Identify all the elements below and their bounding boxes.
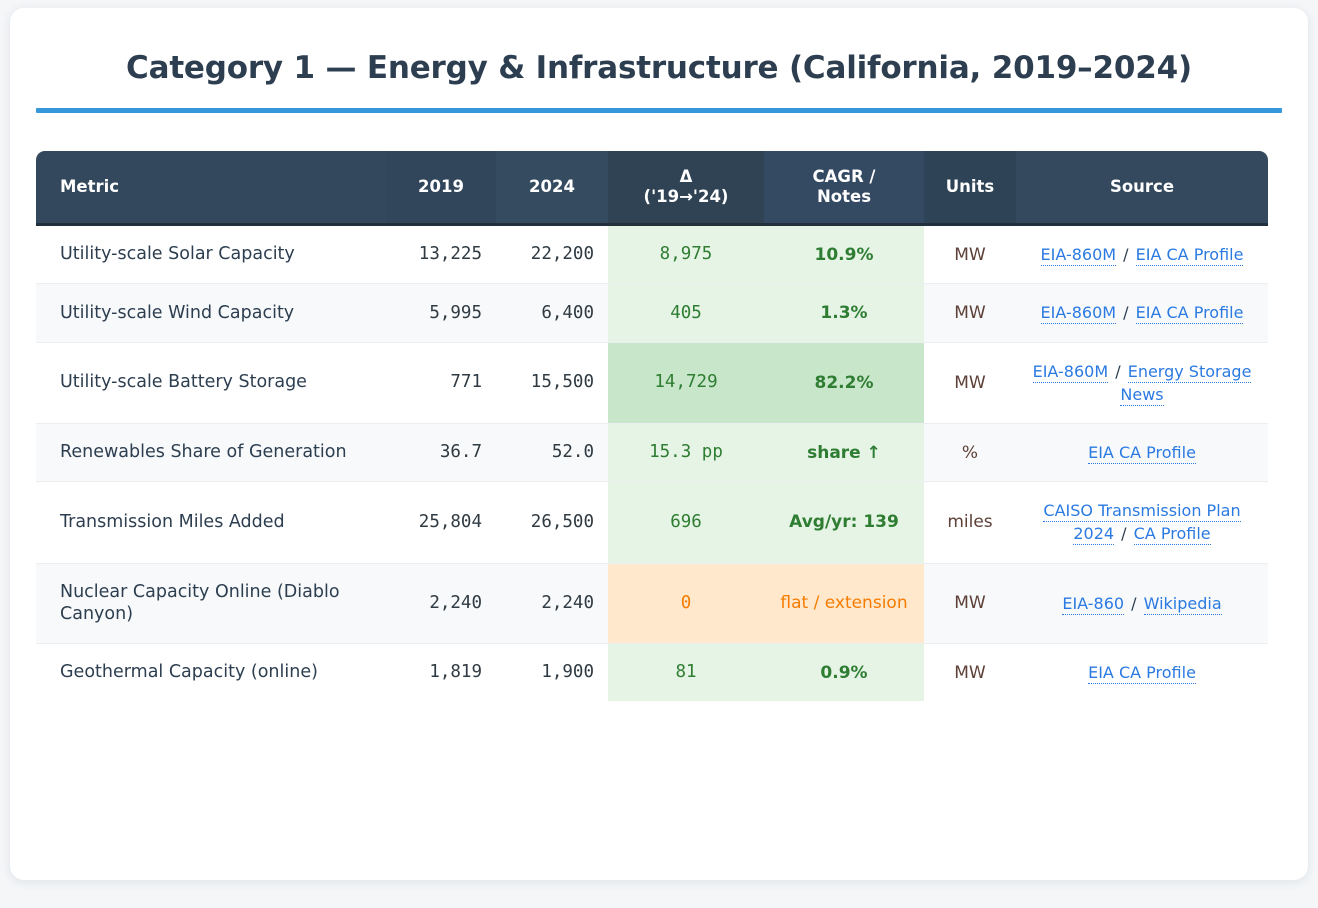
- cell-value-2024: 1,900: [496, 644, 608, 701]
- cell-metric: Nuclear Capacity Online (Diablo Canyon): [36, 564, 386, 645]
- cell-units: miles: [924, 482, 1016, 563]
- table-row: Utility-scale Solar Capacity13,22522,200…: [36, 226, 1268, 284]
- cell-metric: Geothermal Capacity (online): [36, 644, 386, 701]
- cell-cagr-notes: 1.3%: [764, 284, 924, 342]
- column-header-metric[interactable]: Metric: [36, 151, 386, 226]
- column-header-delta[interactable]: Δ ('19→'24): [608, 151, 764, 226]
- cell-value-2019: 1,819: [386, 644, 496, 701]
- column-header-cagr[interactable]: CAGR / Notes: [764, 151, 924, 226]
- cell-units: MW: [924, 564, 1016, 645]
- cell-units: MW: [924, 644, 1016, 701]
- cell-value-2019: 2,240: [386, 564, 496, 645]
- cell-metric: Transmission Miles Added: [36, 482, 386, 563]
- cell-value-2024: 52.0: [496, 424, 608, 482]
- cell-cagr-notes: 82.2%: [764, 343, 924, 424]
- cell-value-2019: 36.7: [386, 424, 496, 482]
- cell-value-2024: 15,500: [496, 343, 608, 424]
- table-row: Utility-scale Battery Storage77115,50014…: [36, 343, 1268, 424]
- cell-metric: Utility-scale Battery Storage: [36, 343, 386, 424]
- report-card: Category 1 — Energy & Infrastructure (Ca…: [10, 8, 1308, 880]
- cell-units: MW: [924, 284, 1016, 342]
- table-row: Renewables Share of Generation36.752.015…: [36, 424, 1268, 482]
- cell-source: EIA CA Profile: [1016, 424, 1268, 482]
- source-link[interactable]: EIA-860M: [1041, 303, 1117, 324]
- table-row: Transmission Miles Added25,80426,500696A…: [36, 482, 1268, 563]
- column-header-delta-line2: ('19→'24): [618, 187, 754, 207]
- cell-value-2019: 5,995: [386, 284, 496, 342]
- source-link[interactable]: EIA CA Profile: [1088, 443, 1196, 464]
- cell-metric: Renewables Share of Generation: [36, 424, 386, 482]
- cell-value-2024: 22,200: [496, 226, 608, 284]
- cell-cagr-notes: 10.9%: [764, 226, 924, 284]
- table-body: Utility-scale Solar Capacity13,22522,200…: [36, 226, 1268, 701]
- source-link[interactable]: Energy Storage News: [1120, 362, 1251, 406]
- column-header-cagr-line2: Notes: [774, 187, 914, 207]
- cell-value-2024: 6,400: [496, 284, 608, 342]
- source-link[interactable]: EIA-860M: [1033, 362, 1109, 383]
- title-accent-rule: [36, 108, 1282, 113]
- cell-cagr-notes: Avg/yr: 139: [764, 482, 924, 563]
- table-header-row: Metric 2019 2024 Δ ('19→'24) CAGR / Note…: [36, 151, 1268, 226]
- cell-source: EIA CA Profile: [1016, 644, 1268, 701]
- source-link[interactable]: EIA-860: [1062, 594, 1124, 615]
- cell-delta: 8,975: [608, 226, 764, 284]
- cell-delta: 0: [608, 564, 764, 645]
- cell-value-2019: 25,804: [386, 482, 496, 563]
- source-link[interactable]: CA Profile: [1134, 524, 1211, 545]
- table-row: Geothermal Capacity (online)1,8191,90081…: [36, 644, 1268, 701]
- column-header-2024[interactable]: 2024: [496, 151, 608, 226]
- cell-delta: 696: [608, 482, 764, 563]
- cell-cagr-notes: share ↑: [764, 424, 924, 482]
- table-row: Nuclear Capacity Online (Diablo Canyon)2…: [36, 564, 1268, 645]
- column-header-source[interactable]: Source: [1016, 151, 1268, 226]
- page-title: Category 1 — Energy & Infrastructure (Ca…: [36, 34, 1282, 108]
- column-header-2019[interactable]: 2019: [386, 151, 496, 226]
- cell-units: %: [924, 424, 1016, 482]
- cell-delta: 14,729: [608, 343, 764, 424]
- cell-cagr-notes: 0.9%: [764, 644, 924, 701]
- source-separator: /: [1124, 594, 1144, 613]
- table-row: Utility-scale Wind Capacity5,9956,400405…: [36, 284, 1268, 342]
- cell-delta: 405: [608, 284, 764, 342]
- cell-delta: 15.3 pp: [608, 424, 764, 482]
- cell-metric: Utility-scale Wind Capacity: [36, 284, 386, 342]
- source-separator: /: [1114, 524, 1134, 543]
- cell-value-2024: 2,240: [496, 564, 608, 645]
- source-link[interactable]: EIA CA Profile: [1136, 245, 1244, 266]
- source-separator: /: [1116, 303, 1136, 322]
- source-link[interactable]: Wikipedia: [1144, 594, 1222, 615]
- cell-source: EIA-860M / EIA CA Profile: [1016, 284, 1268, 342]
- cell-cagr-notes: flat / extension: [764, 564, 924, 645]
- column-header-delta-line1: Δ: [618, 167, 754, 187]
- cell-source: CAISO Transmission Plan 2024 / CA Profil…: [1016, 482, 1268, 563]
- source-separator: /: [1116, 245, 1136, 264]
- source-link[interactable]: EIA CA Profile: [1088, 663, 1196, 684]
- cell-units: MW: [924, 343, 1016, 424]
- cell-source: EIA-860M / EIA CA Profile: [1016, 226, 1268, 284]
- cell-source: EIA-860M / Energy Storage News: [1016, 343, 1268, 424]
- cell-value-2019: 13,225: [386, 226, 496, 284]
- cell-value-2019: 771: [386, 343, 496, 424]
- table-header: Metric 2019 2024 Δ ('19→'24) CAGR / Note…: [36, 151, 1268, 226]
- cell-delta: 81: [608, 644, 764, 701]
- column-header-cagr-line1: CAGR /: [774, 167, 914, 187]
- cell-units: MW: [924, 226, 1016, 284]
- cell-source: EIA-860 / Wikipedia: [1016, 564, 1268, 645]
- cell-value-2024: 26,500: [496, 482, 608, 563]
- column-header-units[interactable]: Units: [924, 151, 1016, 226]
- cell-metric: Utility-scale Solar Capacity: [36, 226, 386, 284]
- energy-infrastructure-table: Metric 2019 2024 Δ ('19→'24) CAGR / Note…: [36, 151, 1268, 701]
- source-separator: /: [1108, 362, 1128, 381]
- source-link[interactable]: EIA-860M: [1041, 245, 1117, 266]
- source-link[interactable]: EIA CA Profile: [1136, 303, 1244, 324]
